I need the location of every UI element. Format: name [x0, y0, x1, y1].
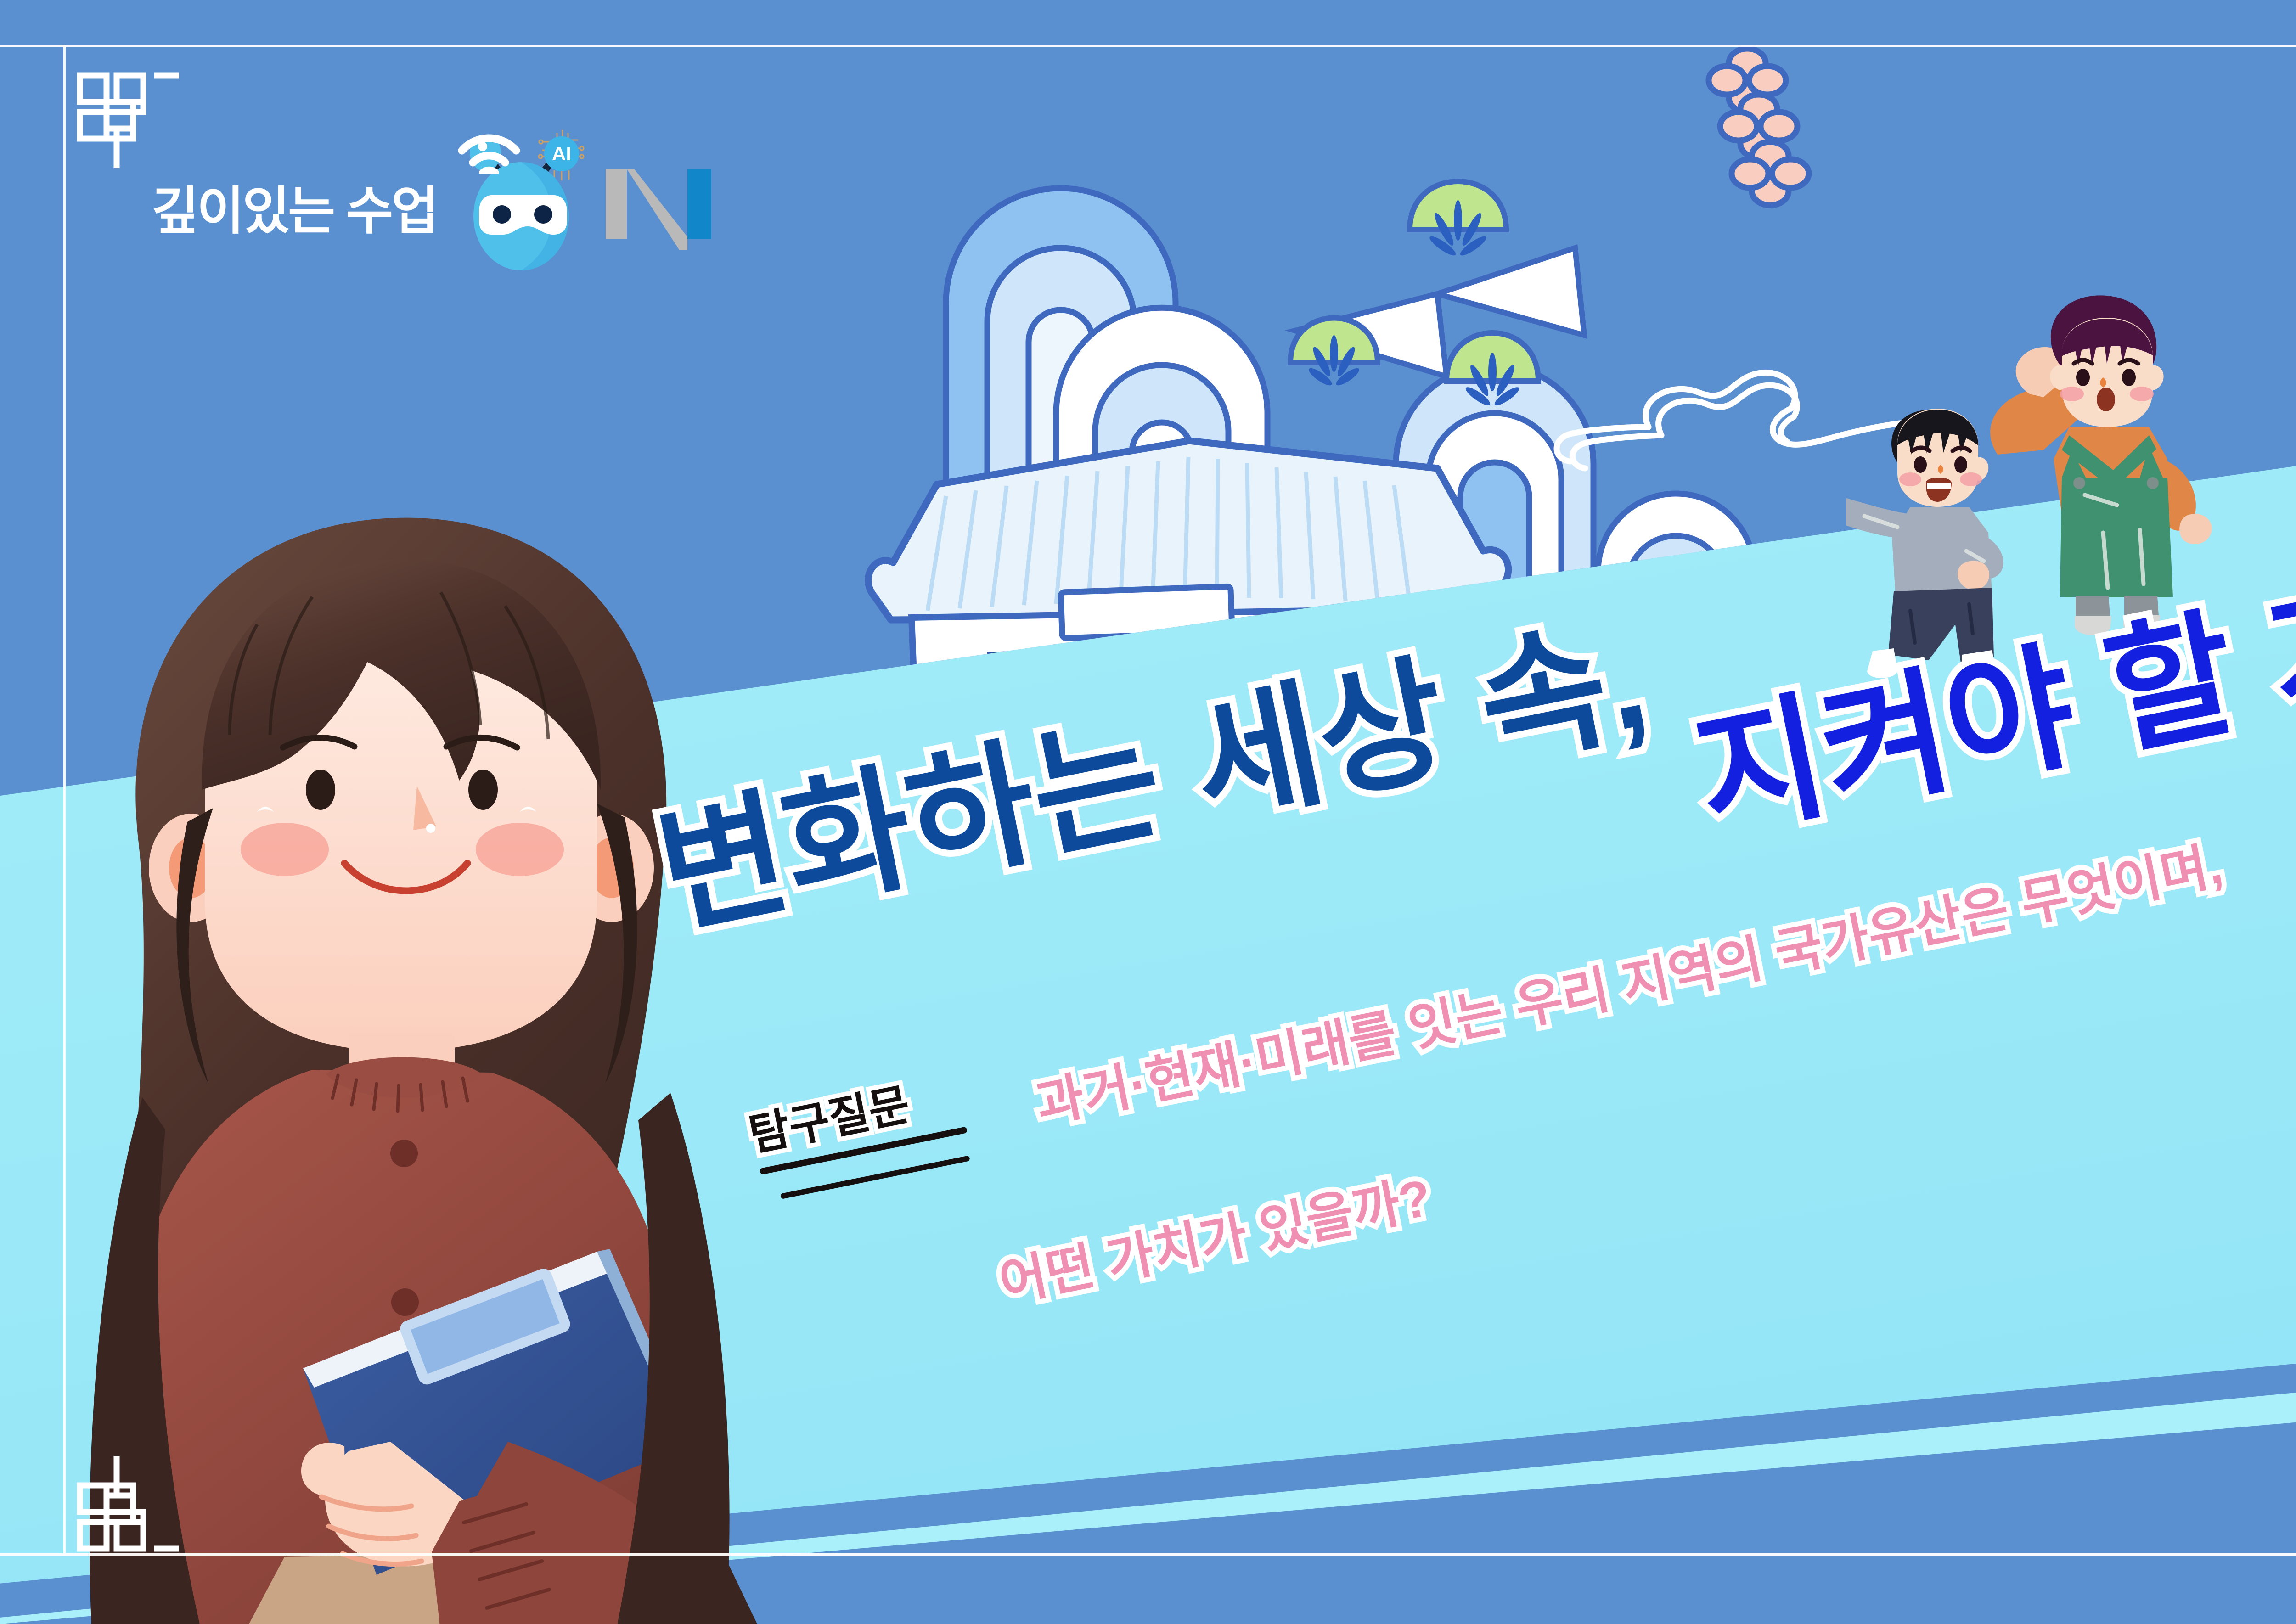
frame-line-left [63, 45, 66, 1556]
on-wordmark [602, 165, 717, 257]
girl-student-with-book [28, 441, 836, 1624]
ai-badge-label: AI [552, 143, 571, 164]
main-title: 변화하는 세상 속, 지켜야 할 가치 [675, 668, 2296, 999]
boy-pointing [1846, 409, 2003, 679]
girl-saluting-overalls [1990, 295, 2212, 635]
brand-title: 깊이있는 수업 [152, 185, 437, 237]
brand-logo[interactable]: 깊이있는 수업 AI [152, 152, 717, 271]
frame-line-bottom [0, 1553, 2296, 1556]
korean-lattice-corner-icon [69, 1450, 179, 1560]
wifi-icon [455, 115, 523, 174]
banner-root: 깊이있는 수업 AI [0, 0, 2296, 1624]
frame-line-top [0, 45, 2296, 47]
